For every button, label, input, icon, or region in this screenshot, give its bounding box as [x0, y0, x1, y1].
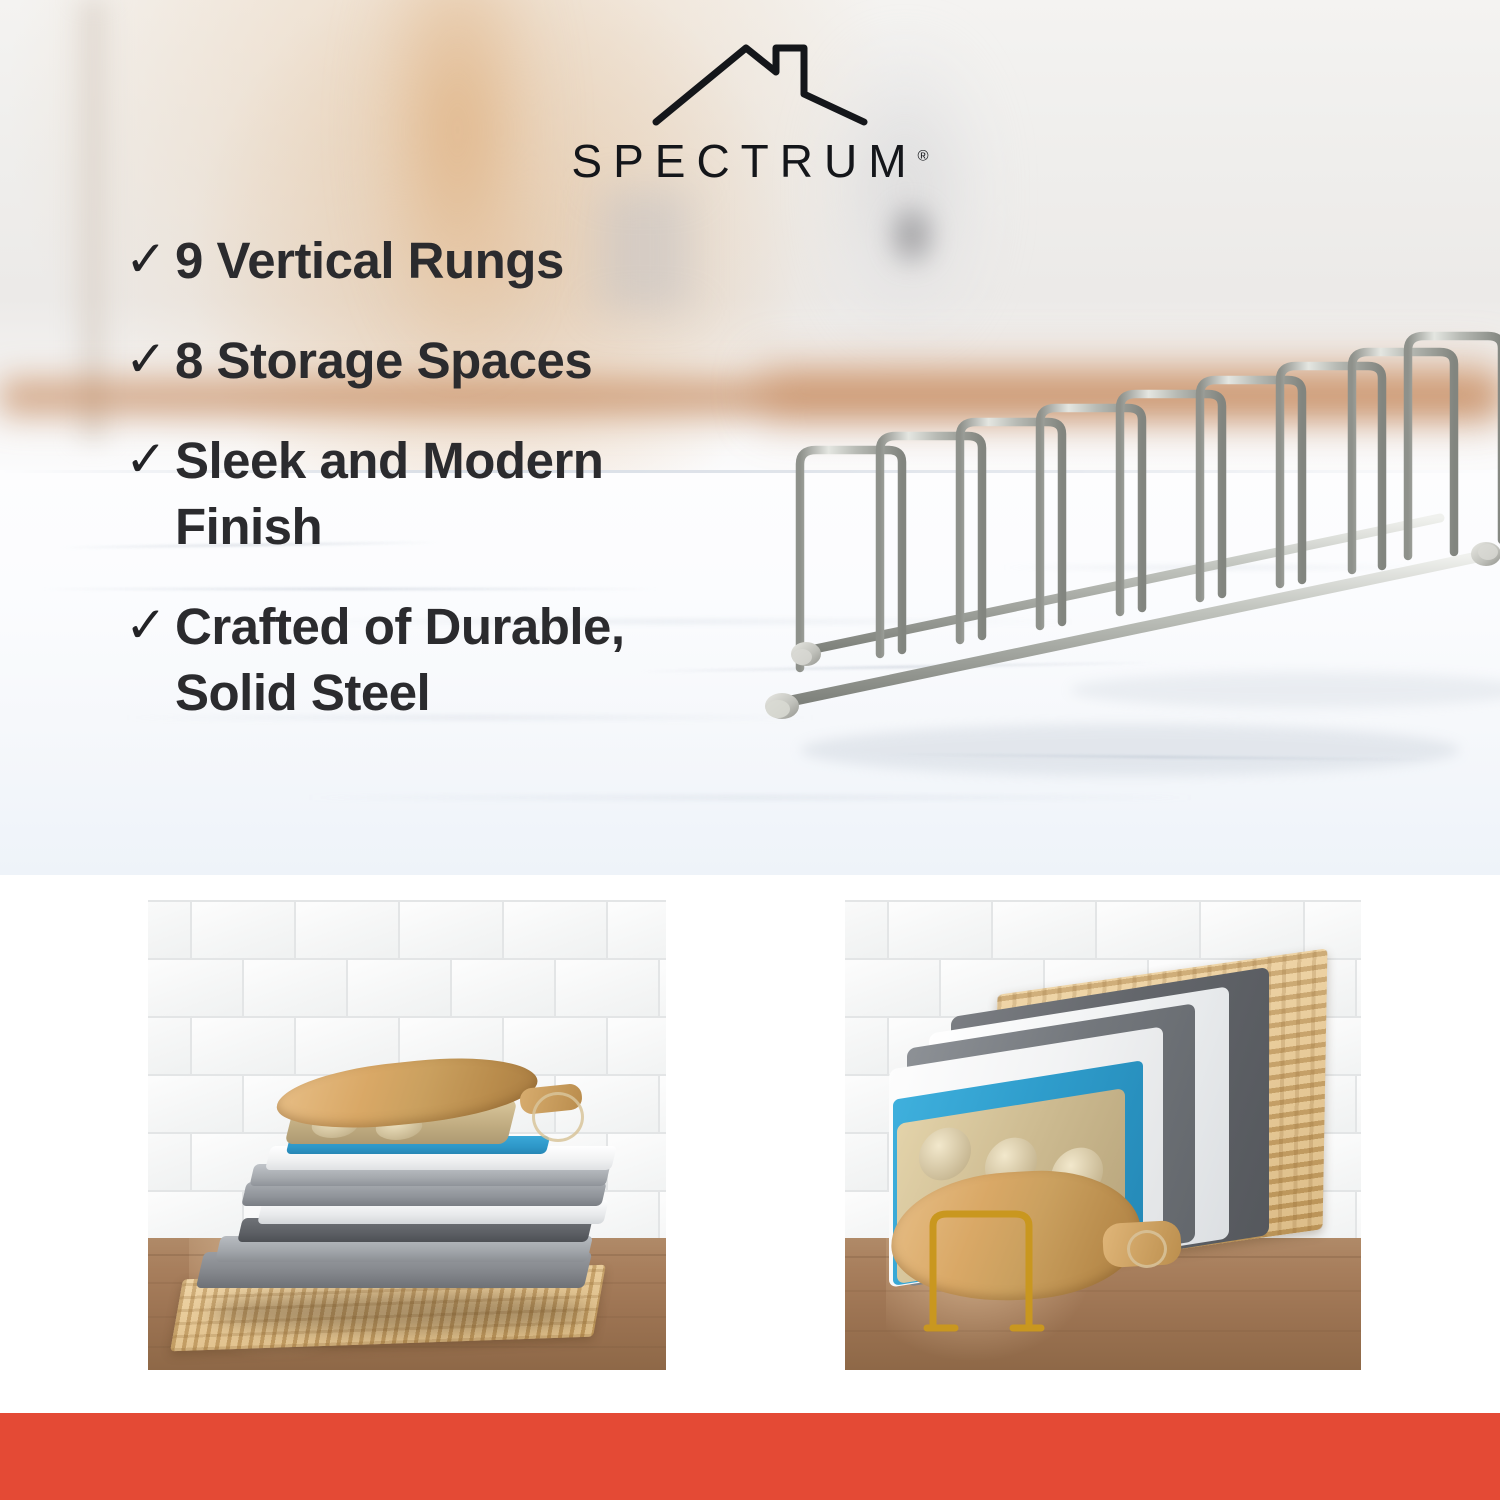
feature-bullet-label: Crafted of Durable, Solid Steel: [175, 594, 735, 726]
brass-stand-icon: [921, 1200, 1081, 1332]
lifestyle-photo-before: [148, 900, 666, 1370]
checkmark-icon: ✓: [125, 328, 175, 390]
feature-bullet-3: ✓ Crafted of Durable, Solid Steel: [125, 594, 765, 726]
checkmark-icon: ✓: [125, 428, 175, 490]
brand-name: SPECTRUM: [571, 135, 917, 187]
feature-bullet-1: ✓ 8 Storage Spaces: [125, 328, 765, 394]
product-rack-image: [740, 250, 1500, 830]
feature-bullet-label: 9 Vertical Rungs: [175, 228, 765, 294]
feature-bullet-2: ✓ Sleek and Modern Finish: [125, 428, 765, 560]
lifestyle-photo-after: [845, 900, 1361, 1370]
bottom-accent-band: [0, 1413, 1500, 1500]
product-marketing-image: SPECTRUM® ✓ 9 Vertical Rungs ✓ 8 Storage…: [0, 0, 1500, 1500]
hero-panel: SPECTRUM® ✓ 9 Vertical Rungs ✓ 8 Storage…: [0, 0, 1500, 875]
brand-logo: SPECTRUM®: [540, 38, 960, 188]
checkmark-icon: ✓: [125, 594, 175, 656]
feature-bullet-list: ✓ 9 Vertical Rungs ✓ 8 Storage Spaces ✓ …: [125, 228, 765, 726]
brand-wordmark: SPECTRUM®: [540, 134, 960, 188]
house-roof-outline-icon: [650, 38, 870, 130]
board-hanging-loop: [532, 1092, 584, 1142]
board-hanging-loop: [1127, 1230, 1167, 1268]
checkmark-icon: ✓: [125, 228, 175, 290]
feature-bullet-label: 8 Storage Spaces: [175, 328, 765, 394]
lifestyle-photo-row: [0, 900, 1500, 1372]
registered-trademark-icon: ®: [918, 148, 929, 165]
feature-bullet-0: ✓ 9 Vertical Rungs: [125, 228, 765, 294]
feature-bullet-label: Sleek and Modern Finish: [175, 428, 735, 560]
